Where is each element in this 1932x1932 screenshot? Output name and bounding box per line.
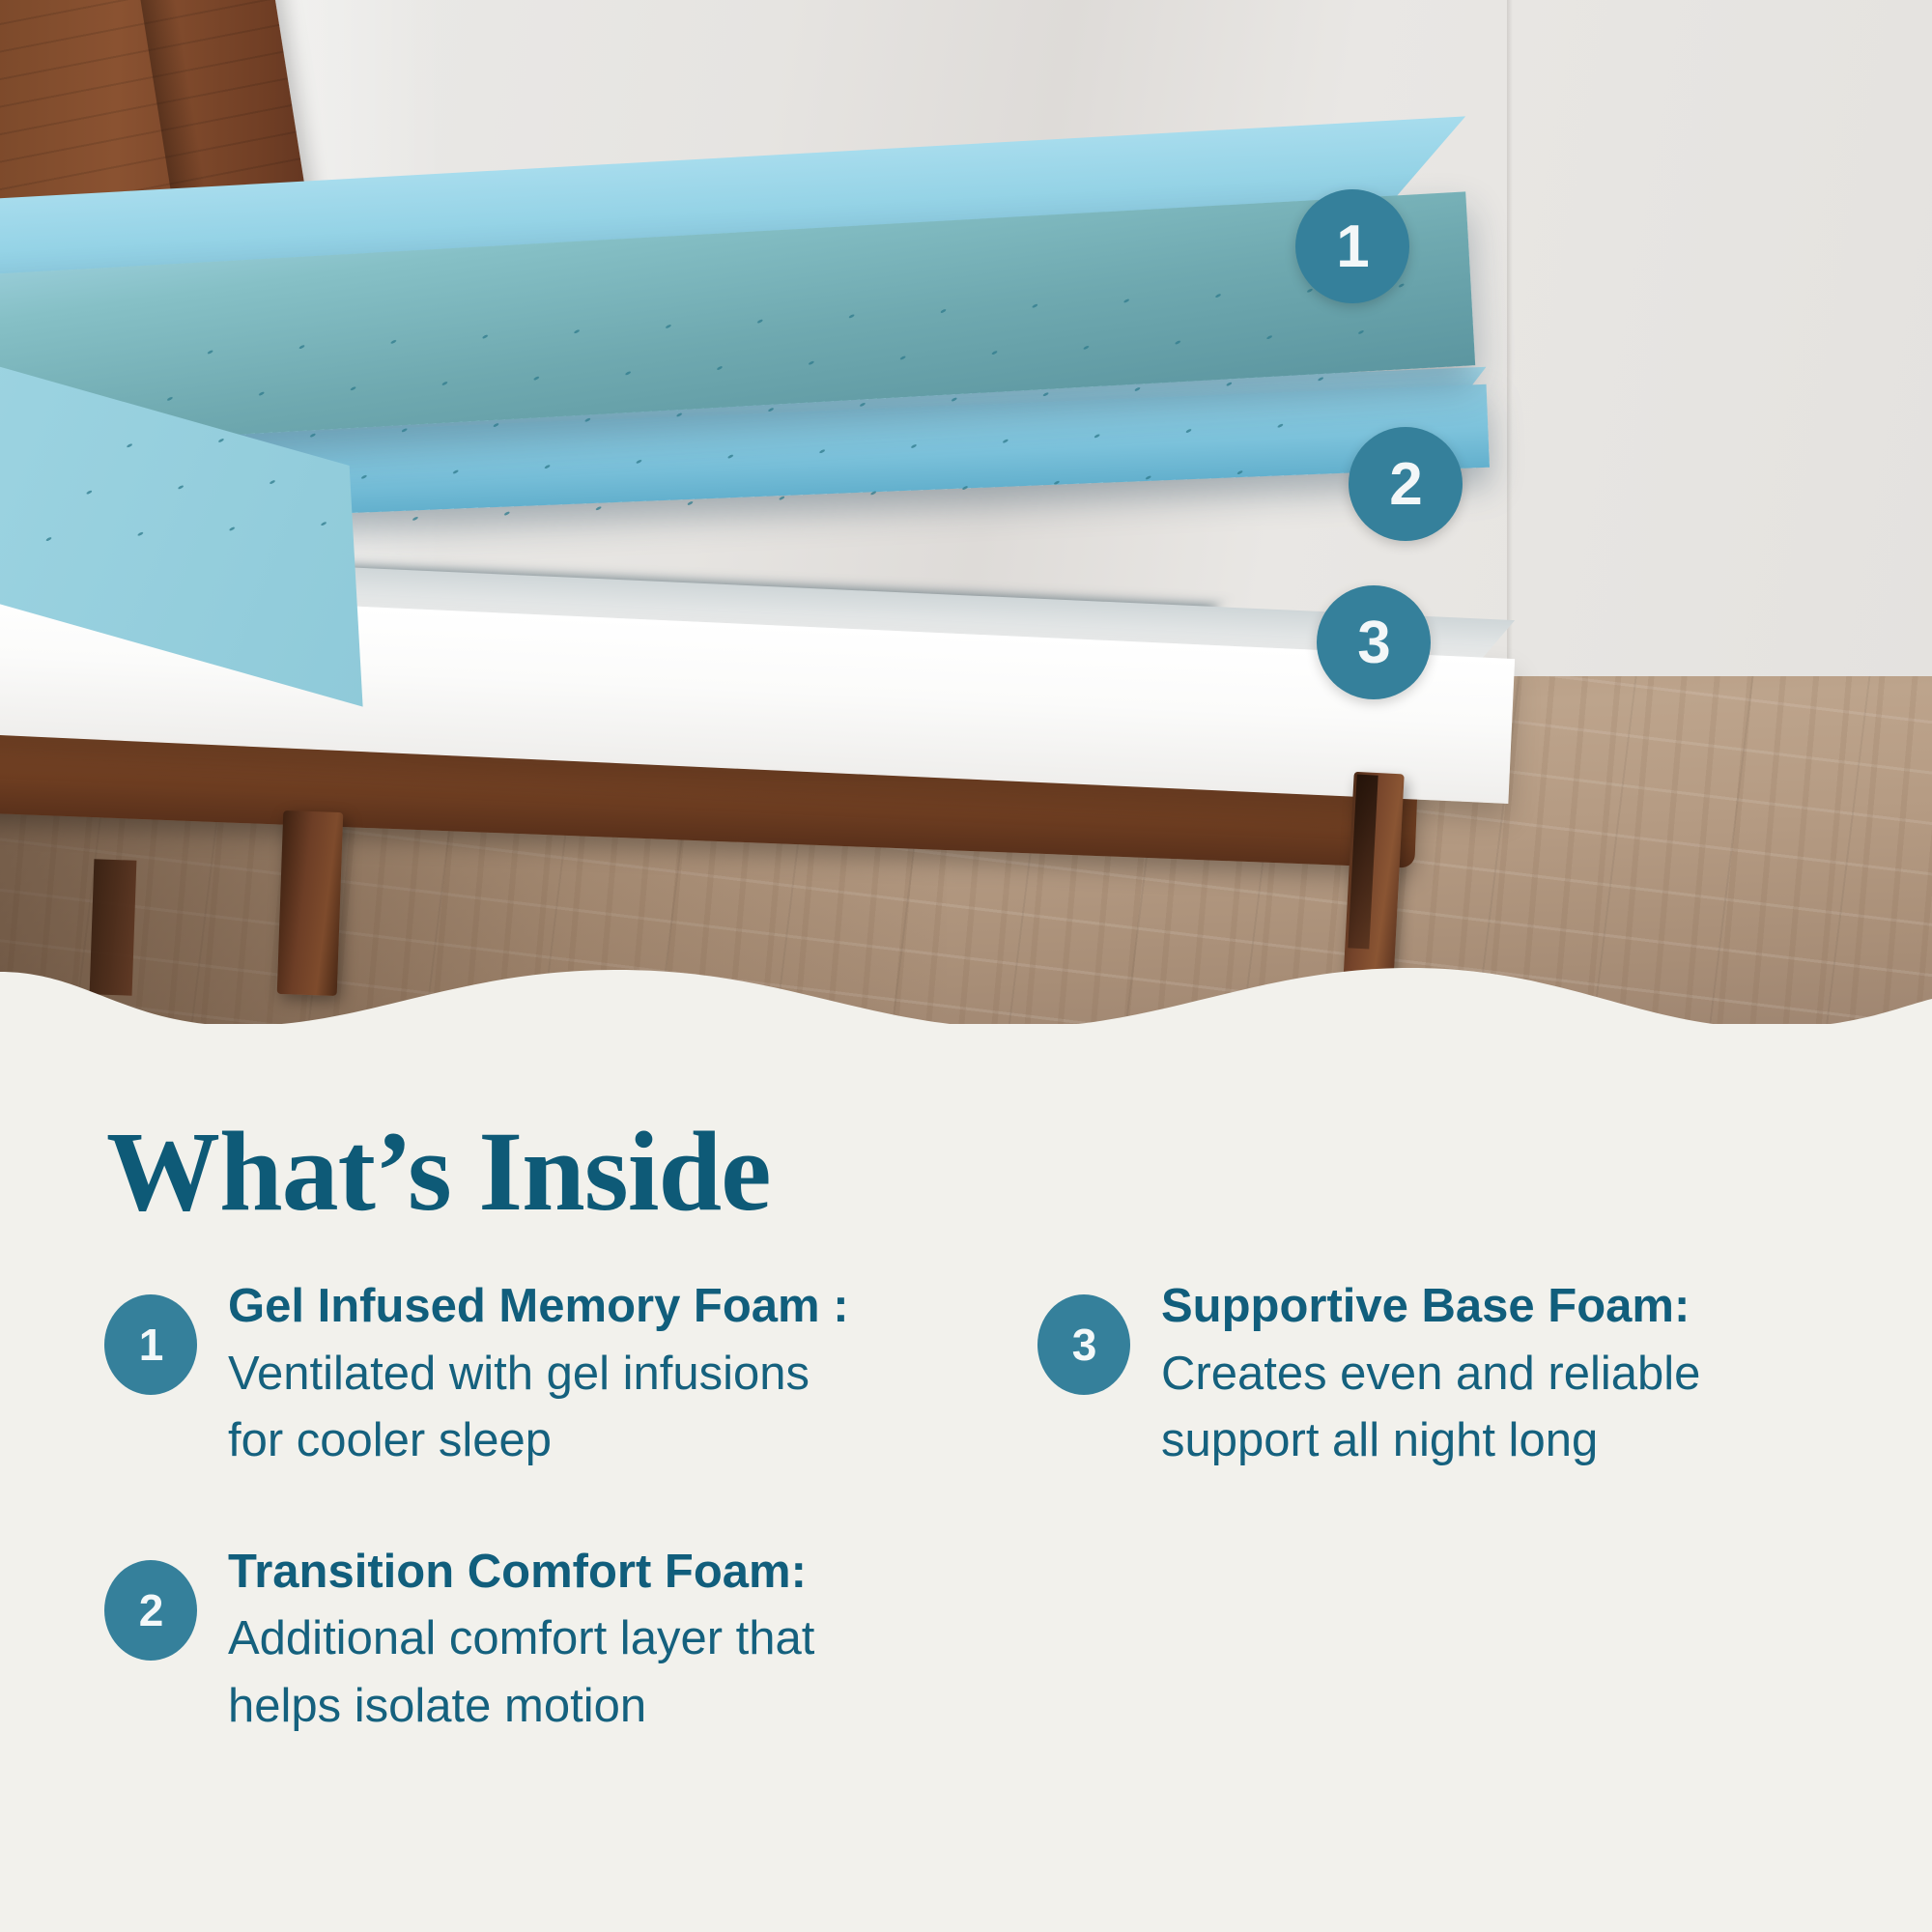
list-item: 2 Transition Comfort Foam: Additional co… bbox=[104, 1539, 887, 1741]
page-title: What’s Inside bbox=[106, 1115, 771, 1229]
badge-number-2: 2 bbox=[104, 1560, 197, 1661]
photo-callout-2: 2 bbox=[1349, 427, 1463, 541]
layer-label-2: Transition Comfort Foam: bbox=[228, 1546, 807, 1598]
layer-body-1: Ventilated with gel infusions for cooler… bbox=[228, 1348, 810, 1467]
list-item: 3 Supportive Base Foam: Creates even and… bbox=[1037, 1273, 1820, 1475]
layer-label-3: Supportive Base Foam: bbox=[1161, 1280, 1690, 1332]
layer-list-column-left: 1 Gel Infused Memory Foam : Ventilated w… bbox=[104, 1273, 887, 1804]
layer-description-3: Supportive Base Foam: Creates even and r… bbox=[1161, 1273, 1820, 1475]
layer-body-2: Additional comfort layer that helps isol… bbox=[228, 1612, 814, 1732]
layer-list-column-right: 3 Supportive Base Foam: Creates even and… bbox=[1037, 1273, 1820, 1804]
badge-number-3: 3 bbox=[1037, 1294, 1130, 1395]
layer-body-3: Creates even and reliable support all ni… bbox=[1161, 1348, 1700, 1467]
list-item: 1 Gel Infused Memory Foam : Ventilated w… bbox=[104, 1273, 887, 1475]
photo-callout-3: 3 bbox=[1317, 585, 1431, 699]
layer-description-2: Transition Comfort Foam: Additional comf… bbox=[228, 1539, 866, 1741]
infographic-root: 1 2 3 What’s Inside 1 Gel Infused Memory… bbox=[0, 0, 1932, 1932]
badge-number-1: 1 bbox=[104, 1294, 197, 1395]
product-photo: 1 2 3 bbox=[0, 0, 1932, 1034]
layer-label-1: Gel Infused Memory Foam : bbox=[228, 1280, 849, 1332]
photo-callout-1: 1 bbox=[1295, 189, 1409, 303]
layer-description-1: Gel Infused Memory Foam : Ventilated wit… bbox=[228, 1273, 866, 1475]
layer-list: 1 Gel Infused Memory Foam : Ventilated w… bbox=[104, 1273, 1843, 1804]
